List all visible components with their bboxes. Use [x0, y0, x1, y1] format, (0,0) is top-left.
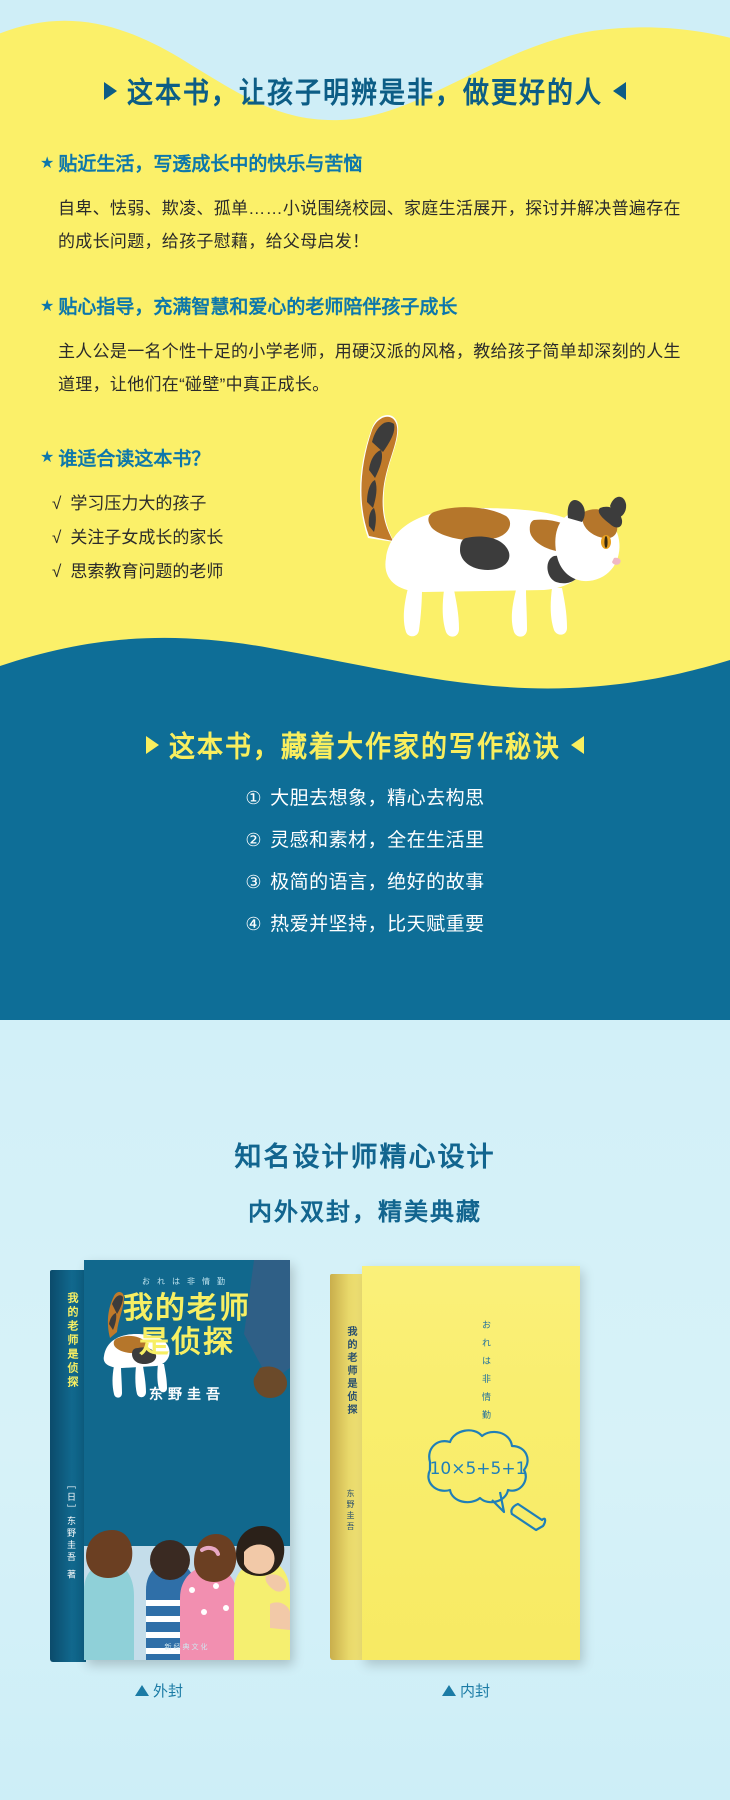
- cat-illustration: [338, 408, 628, 638]
- benefit-title-1-row: ★ 贴近生活，写透成长中的快乐与苦恼: [40, 149, 730, 176]
- outer-spine-title: 我的老师是侦探: [56, 1292, 80, 1390]
- benefits-heading-text: 这本书，让孩子明辨是非，做更好的人: [127, 70, 603, 111]
- triangle-right-icon: [104, 82, 117, 100]
- list-item: ①大胆去想象，精心去构思: [0, 789, 730, 808]
- book-mockups: 我的老师是侦探 ［日］东野圭吾 著: [0, 1260, 730, 1680]
- audience-item-2: 关注子女成长的家长: [70, 523, 223, 548]
- triangle-left-icon: [571, 736, 584, 754]
- triangle-left-icon: [613, 82, 626, 100]
- triangle-right-icon: [146, 736, 159, 754]
- triangle-up-icon: [442, 1685, 456, 1696]
- caption-outer-cover: 外封: [135, 1680, 183, 1701]
- outer-cover-spine: 我的老师是侦探 ［日］东野圭吾 著: [50, 1270, 86, 1662]
- caption-inner-cover: 内封: [442, 1680, 490, 1701]
- inner-cover-mockup: 我的老师是侦探 东野圭吾 おれは非情勤 10×5+5+1: [330, 1266, 580, 1664]
- design-title: 知名设计师精心设计: [0, 1135, 730, 1174]
- list-number: ②: [245, 830, 262, 850]
- benefit-title-1: 贴近生活，写透成长中的快乐与苦恼: [58, 149, 362, 176]
- outer-cover-title-line1: 我的老师: [84, 1292, 290, 1326]
- list-item: ③极简的语言，绝好的故事: [0, 873, 730, 892]
- section-benefits: 这本书，让孩子明辨是非，做更好的人 ★ 贴近生活，写透成长中的快乐与苦恼 自卑、…: [0, 0, 730, 700]
- list-number: ③: [245, 872, 262, 892]
- list-item: ②灵感和素材，全在生活里: [0, 831, 730, 850]
- secret-text-4: 热爱并坚持，比天赋重要: [270, 914, 485, 935]
- outer-spine-author: ［日］东野圭吾 著: [58, 1480, 78, 1582]
- inner-cover-sketch: 10×5+5+1: [396, 1416, 566, 1546]
- inner-spine-title: 我的老师是侦探: [336, 1326, 358, 1417]
- audience-item-3: 思索教育问题的老师: [70, 557, 223, 582]
- benefits-heading: 这本书，让孩子明辨是非，做更好的人: [0, 72, 730, 109]
- audience-title: 谁适合读这本书？: [58, 444, 210, 471]
- benefit-title-2: 贴心指导，充满智慧和爱心的老师陪伴孩子成长: [58, 292, 457, 319]
- design-subtitle: 内外双封，精美典藏: [0, 1192, 730, 1227]
- inner-cover-spine: 我的老师是侦探 东野圭吾: [330, 1274, 364, 1660]
- outer-cover-japanese-title: おれは非情勤: [84, 1276, 290, 1287]
- secret-text-3: 极简的语言，绝好的故事: [270, 872, 485, 893]
- book-captions: 外封 内封: [0, 1680, 730, 1740]
- outer-cover-title-line2: 是侦探: [84, 1326, 290, 1360]
- inner-cover-formula: 10×5+5+1: [430, 1459, 527, 1479]
- secrets-list: ①大胆去想象，精心去构思 ②灵感和素材，全在生活里 ③极简的语言，绝好的故事 ④…: [0, 789, 730, 934]
- outer-cover-mockup: 我的老师是侦探 ［日］东野圭吾 著: [50, 1260, 290, 1665]
- outer-cover-face: おれは非情勤 我的老师 是侦探 东野圭吾 新经典文化: [84, 1260, 290, 1660]
- check-icon: √: [52, 494, 61, 514]
- section-writing-secrets: 这本书，藏着大作家的写作秘诀 ①大胆去想象，精心去构思 ②灵感和素材，全在生活里…: [0, 630, 730, 1050]
- pencil-icon: [511, 1504, 545, 1530]
- outer-cover-publisher: 新经典文化: [84, 1642, 290, 1652]
- secrets-heading-text: 这本书，藏着大作家的写作秘诀: [169, 724, 561, 765]
- check-icon: √: [52, 528, 61, 548]
- inner-spine-author: 东野圭吾: [338, 1489, 356, 1533]
- secret-text-1: 大胆去想象，精心去构思: [270, 788, 485, 809]
- star-icon: ★: [40, 153, 54, 173]
- benefit-paragraph-2: 主人公是一名个性十足的小学老师，用硬汉派的风格，教给孩子简单却深刻的人生道理，让…: [58, 335, 690, 401]
- caption-inner-label: 内封: [460, 1680, 490, 1701]
- inner-cover-japanese-title: おれは非情勤: [474, 1320, 492, 1428]
- star-icon: ★: [40, 447, 54, 467]
- outer-cover-title: 我的老师 是侦探: [84, 1292, 290, 1359]
- secrets-heading: 这本书，藏着大作家的写作秘诀: [0, 726, 730, 763]
- list-number: ④: [245, 914, 262, 934]
- section-design: 知名设计师精心设计 内外双封，精美典藏 我的老师是侦探 ［日］东野圭吾 著: [0, 1020, 730, 1800]
- secret-text-2: 灵感和素材，全在生活里: [270, 830, 485, 851]
- benefit-block-1: ★ 贴近生活，写透成长中的快乐与苦恼 自卑、怯弱、欺凌、孤单……小说围绕校园、家…: [0, 149, 730, 258]
- list-number: ①: [245, 788, 262, 808]
- outer-cover-author: 东野圭吾: [84, 1384, 290, 1404]
- caption-outer-label: 外封: [153, 1680, 183, 1701]
- star-icon: ★: [40, 296, 54, 316]
- benefit-title-2-row: ★ 贴心指导，充满智慧和爱心的老师陪伴孩子成长: [40, 292, 730, 319]
- benefit-block-2: ★ 贴心指导，充满智慧和爱心的老师陪伴孩子成长 主人公是一名个性十足的小学老师，…: [0, 292, 730, 401]
- check-icon: √: [52, 562, 61, 582]
- benefit-paragraph-1: 自卑、怯弱、欺凌、孤单……小说围绕校园、家庭生活展开，探讨并解决普遍存在的成长问…: [58, 192, 690, 258]
- triangle-up-icon: [135, 1685, 149, 1696]
- list-item: ④热爱并坚持，比天赋重要: [0, 915, 730, 934]
- inner-cover-face: おれは非情勤 10×5+5+1: [362, 1266, 580, 1660]
- audience-item-1: 学习压力大的孩子: [70, 489, 206, 514]
